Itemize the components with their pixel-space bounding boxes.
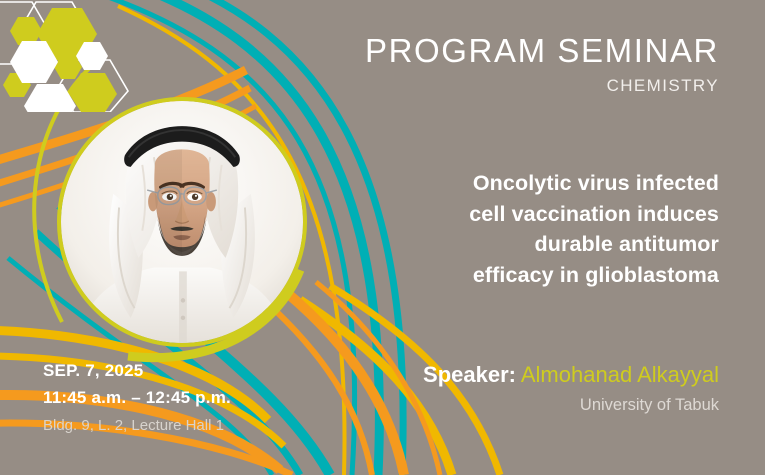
event-venue: Bldg. 9, L. 2, Lecture Hall 1 <box>43 417 231 434</box>
speaker-portrait <box>57 97 307 347</box>
speaker-label: Speaker: <box>423 362 516 387</box>
talk-title-line: Oncolytic virus infected <box>419 168 719 199</box>
event-details: SEP. 7, 2025 11:45 a.m. – 12:45 p.m. Bld… <box>43 361 231 434</box>
department-subtitle: CHEMISTRY <box>365 76 719 96</box>
hexagon-cluster-logo <box>0 0 130 112</box>
event-date: SEP. 7, 2025 <box>43 361 231 381</box>
page-title: PROGRAM SEMINAR <box>365 34 719 69</box>
speaker-line: Speaker: Almohanad Alkayyal <box>423 362 719 387</box>
talk-title-line: efficacy in glioblastoma <box>419 260 719 291</box>
talk-title: Oncolytic virus infected cell vaccinatio… <box>419 168 719 290</box>
talk-title-line: cell vaccination induces <box>419 199 719 230</box>
talk-title-line: durable antitumor <box>419 229 719 260</box>
event-time: 11:45 a.m. – 12:45 p.m. <box>43 388 231 408</box>
portrait-ring <box>57 97 307 347</box>
speaker-info: Speaker: Almohanad Alkayyal University o… <box>423 362 719 415</box>
header: PROGRAM SEMINAR CHEMISTRY <box>365 34 719 96</box>
speaker-name: Almohanad Alkayyal <box>521 362 719 387</box>
seminar-poster: PROGRAM SEMINAR CHEMISTRY Oncolytic viru… <box>0 0 765 475</box>
speaker-affiliation: University of Tabuk <box>423 396 719 415</box>
